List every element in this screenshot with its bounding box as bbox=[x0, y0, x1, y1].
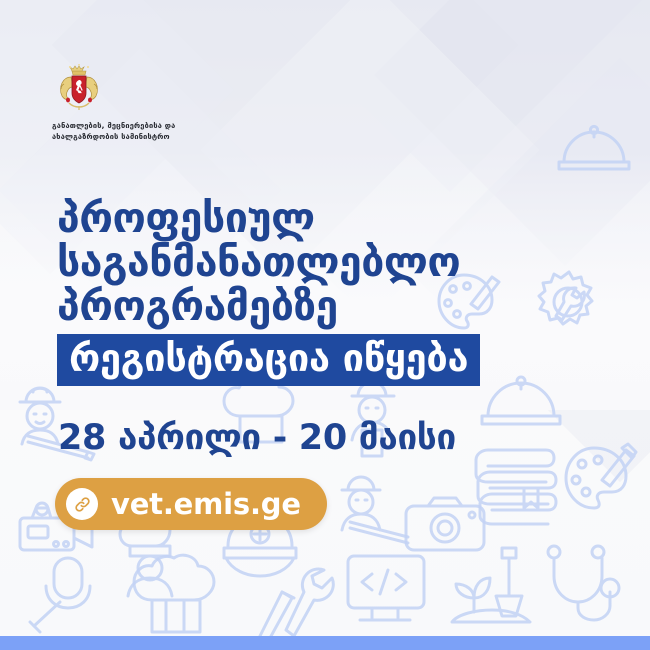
link-icon bbox=[66, 488, 98, 520]
georgia-coat-of-arms-icon bbox=[56, 64, 102, 112]
bottom-accent-bar bbox=[0, 636, 650, 650]
books-icon bbox=[466, 440, 564, 526]
date-range: 28 აპრილი - 20 მაისი bbox=[58, 418, 456, 458]
camera-icon bbox=[402, 494, 488, 556]
shovel-plant-icon bbox=[444, 542, 542, 630]
stethoscope-icon bbox=[540, 542, 626, 622]
construction-worker-icon-3 bbox=[324, 470, 416, 550]
headline-block: პროფესიულ საგანმანათლებლო პროგრამებზე რე… bbox=[57, 196, 597, 386]
facet-shape bbox=[238, 0, 650, 192]
code-monitor-icon bbox=[342, 550, 438, 630]
headline-line-1: პროფესიულ bbox=[57, 196, 597, 240]
chef-hat-icon bbox=[128, 552, 220, 644]
food-cloche-icon-2 bbox=[556, 122, 632, 176]
paint-palette-icon bbox=[560, 442, 640, 524]
chef-icon bbox=[110, 520, 196, 598]
headline-highlight-band: რეგისტრაცია იწყება bbox=[57, 334, 480, 386]
poster-canvas: განათლების, მეცნიერებისა და ახალგაზრდობი… bbox=[0, 0, 650, 650]
header: განათლების, მეცნიერებისა და ახალგაზრდობი… bbox=[52, 64, 282, 142]
headline-line-2: საგანმანათლებლო bbox=[57, 240, 597, 284]
url-label: vet.emis.ge bbox=[111, 487, 301, 521]
headline-line-3: პროგრამებზე bbox=[57, 284, 597, 328]
url-button[interactable]: vet.emis.ge bbox=[55, 478, 327, 530]
ministry-name: განათლების, მეცნიერებისა და ახალგაზრდობი… bbox=[52, 121, 282, 142]
microphone-icon bbox=[24, 552, 114, 634]
